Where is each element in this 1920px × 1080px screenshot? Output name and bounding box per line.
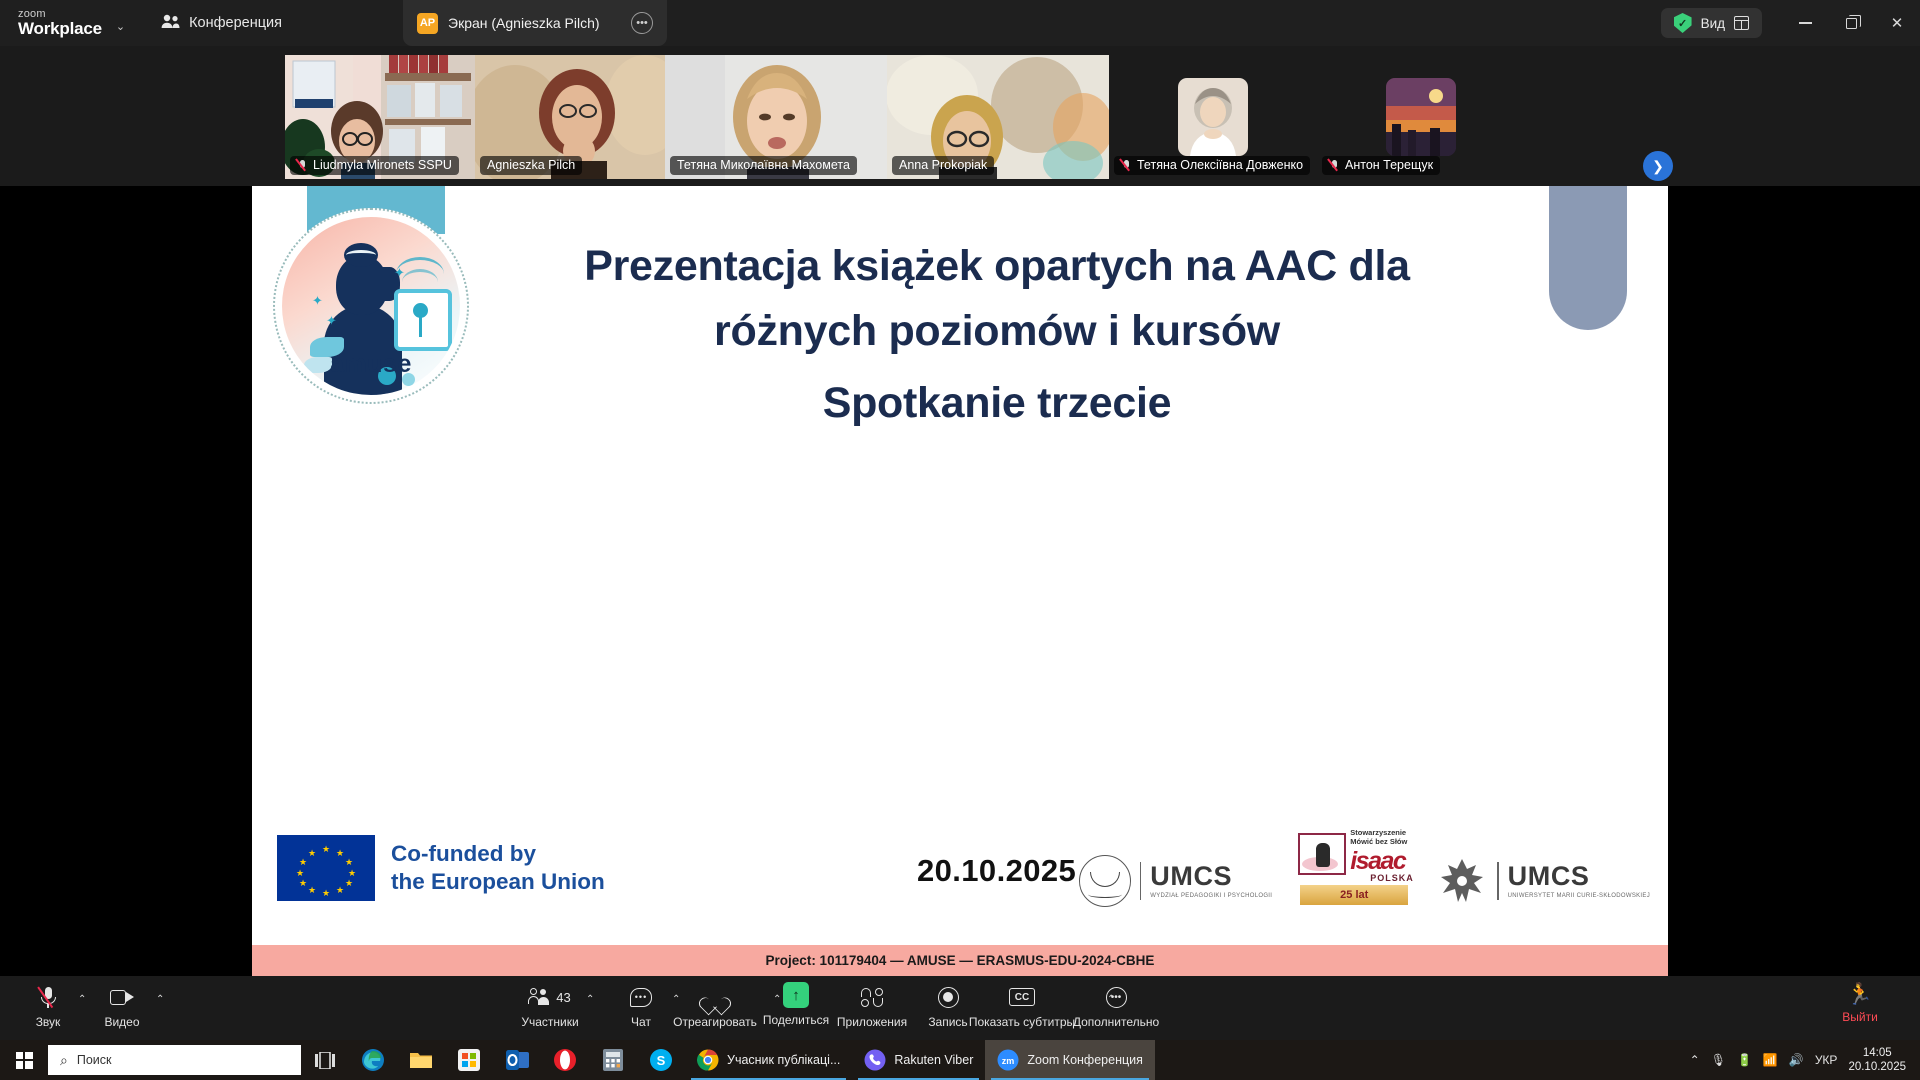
video-tile-avatar[interactable]: Антон Терещук bbox=[1317, 55, 1525, 179]
restore-icon bbox=[1846, 18, 1857, 29]
microsoft-edge-icon[interactable] bbox=[349, 1040, 397, 1080]
umcs-subtitle: WYDZIAŁ PEDAGOGIKI I PSYCHOLOGII bbox=[1150, 893, 1272, 899]
skype-icon[interactable]: S bbox=[637, 1040, 685, 1080]
eu-funding-logo: ★ ★ ★ ★ ★ ★ ★ ★ ★ ★ ★ ★ Co-funded by the… bbox=[277, 835, 605, 901]
title-bar: zoom Workplace ⌄ Конференция AP Экран (A… bbox=[0, 0, 1920, 46]
clock-time: 14:05 bbox=[1863, 1047, 1892, 1059]
close-button[interactable]: ✕ bbox=[1874, 0, 1920, 46]
volume-icon[interactable]: 🔊 bbox=[1789, 1053, 1804, 1067]
flower-icon bbox=[413, 303, 428, 318]
video-tile-avatar[interactable]: Тетяна Олексіївна Довженко bbox=[1109, 55, 1317, 179]
video-options-chevron-icon[interactable]: ⌃ bbox=[156, 994, 164, 1005]
sparkle-icon: ✦ bbox=[394, 265, 405, 281]
view-label: Вид bbox=[1701, 16, 1725, 31]
people-icon bbox=[161, 14, 180, 33]
umcs-wordmark: UMCS UNIWERSYTET MARII CURIE-SKŁODOWSKIE… bbox=[1508, 863, 1650, 899]
windows-taskbar: ⌕ Поиск S Учасник публікаці... bbox=[0, 1040, 1920, 1080]
eu-text-line1: Co-funded by bbox=[391, 840, 605, 868]
clock[interactable]: 14:05 20.10.2025 bbox=[1848, 1046, 1906, 1074]
captions-button[interactable]: CC Показать субтитры ⌃ bbox=[976, 984, 1068, 1029]
zoom-logo-line2: Workplace bbox=[18, 20, 102, 37]
taskbar-app-label: Zoom Конференция bbox=[1027, 1053, 1143, 1067]
video-tile[interactable]: Agnieszka Pilch bbox=[475, 55, 665, 179]
isaac-polska-logo: Stowarzyszenie Mówić bez Słów isaac POLS… bbox=[1298, 833, 1410, 907]
sparkle-icon: ✦ bbox=[312, 293, 323, 309]
isaac-mark: isaac bbox=[1350, 847, 1405, 876]
chat-bubble-icon: ••• bbox=[630, 984, 652, 1010]
record-label: Запись bbox=[928, 1015, 967, 1029]
amuse-logo-wordmark: amuse bbox=[282, 350, 460, 379]
umcs-wordmark: UMCS WYDZIAŁ PEDAGOGIKI I PSYCHOLOGII bbox=[1150, 863, 1272, 899]
slide-decor-blue-pill bbox=[1549, 186, 1627, 330]
taskbar-app-label: Rakuten Viber bbox=[894, 1053, 973, 1067]
svg-text:zm: zm bbox=[1002, 1056, 1015, 1066]
svg-text:S: S bbox=[657, 1053, 666, 1068]
amuse-logo-art: ✦ ✦ ✦ amuse bbox=[282, 217, 460, 395]
tab-meeting[interactable]: Конференция bbox=[161, 0, 282, 46]
restore-button[interactable] bbox=[1828, 0, 1874, 46]
video-tiles: Liudmyla Mironets SSPU Agnieszka bbox=[285, 55, 1525, 179]
clock-date: 20.10.2025 bbox=[1848, 1061, 1906, 1073]
microphone-muted-icon bbox=[1329, 159, 1340, 172]
share-screen-icon: ↑ bbox=[783, 982, 809, 1008]
more-button[interactable]: ••• Дополнительно bbox=[1070, 984, 1162, 1029]
outlook-icon[interactable] bbox=[493, 1040, 541, 1080]
ellipsis-icon[interactable]: ••• bbox=[631, 12, 653, 34]
participant-name: Тетяна Олексіївна Довженко bbox=[1114, 156, 1310, 175]
microphone-muted-icon bbox=[297, 159, 308, 172]
avatar: AP bbox=[417, 13, 438, 34]
participants-count: 43 bbox=[556, 990, 570, 1005]
flower-stem bbox=[419, 317, 422, 337]
participant-name: Liudmyla Mironets SSPU bbox=[290, 156, 459, 175]
tab-meeting-label: Конференция bbox=[189, 15, 282, 31]
participant-name: Тетяна Миколаївна Махомета bbox=[670, 156, 857, 175]
presentation-slide: ✦ ✦ ✦ amuse Prezentacja książek opartych… bbox=[252, 186, 1668, 945]
isaac-anniversary-ribbon: 25 lat bbox=[1300, 885, 1408, 905]
project-banner: Project: 101179404 — AMUSE — ERASMUS-EDU… bbox=[252, 945, 1668, 976]
taskbar-app-zoom[interactable]: zm Zoom Конференция bbox=[985, 1040, 1155, 1080]
apps-grid-icon bbox=[861, 984, 883, 1010]
participant-name-label: Liudmyla Mironets SSPU bbox=[313, 158, 452, 172]
closed-captions-icon: CC bbox=[1009, 984, 1035, 1010]
isaac-caption: Stowarzyszenie Mówić bez Słów bbox=[1350, 829, 1407, 847]
heart-icon bbox=[705, 984, 726, 1010]
react-button[interactable]: Отреагировать ⌃ bbox=[669, 984, 761, 1029]
participants-options-chevron-icon[interactable]: ⌃ bbox=[586, 994, 594, 1005]
microphone-muted-icon bbox=[1121, 159, 1132, 172]
minimize-icon bbox=[1799, 22, 1812, 24]
captions-label: Показать субтитры bbox=[969, 1015, 1075, 1029]
opera-icon[interactable] bbox=[541, 1040, 589, 1080]
participant-video-strip: Liudmyla Mironets SSPU Agnieszka bbox=[0, 46, 1920, 186]
zoom-toolbar: Звук ⌃ Видео ⌃ 43 Участники ⌃ ••• Чат ⌃ … bbox=[0, 976, 1920, 1040]
umcs-faculty-logo: UMCS WYDZIAŁ PEDAGOGIKI I PSYCHOLOGII bbox=[1079, 855, 1272, 907]
search-placeholder: Поиск bbox=[77, 1053, 112, 1067]
participant-name-label: Тетяна Олексіївна Довженко bbox=[1137, 158, 1303, 172]
avatar bbox=[1386, 78, 1456, 156]
umcs-emblem-icon bbox=[1079, 855, 1131, 907]
zoom-meeting-window: zoom Workplace ⌄ Конференция AP Экран (A… bbox=[0, 0, 1920, 1080]
amuse-logo: ✦ ✦ ✦ amuse bbox=[273, 208, 469, 404]
file-explorer-icon[interactable] bbox=[397, 1040, 445, 1080]
eu-flag-icon: ★ ★ ★ ★ ★ ★ ★ ★ ★ ★ ★ ★ bbox=[277, 835, 375, 901]
video-tile-active-speaker[interactable]: Тетяна Миколаївна Махомета bbox=[665, 55, 887, 179]
taskbar-app-chrome[interactable]: Учасник публікаці... bbox=[685, 1040, 852, 1080]
divider bbox=[1140, 862, 1141, 900]
chevron-up-icon[interactable]: ⌃ bbox=[1690, 1053, 1700, 1067]
windows-start-icon[interactable] bbox=[0, 1040, 48, 1080]
eu-text-line2: the European Union bbox=[391, 868, 605, 896]
figure-bun-line bbox=[346, 250, 376, 260]
slide-title: Prezentacja książek opartych na AAC dla … bbox=[452, 234, 1542, 436]
tablet-icon bbox=[394, 289, 452, 351]
participants-button[interactable]: 43 Участники ⌃ bbox=[504, 984, 596, 1029]
video-tile[interactable]: Liudmyla Mironets SSPU bbox=[285, 55, 475, 179]
view-mode-button[interactable]: Вид bbox=[1661, 8, 1762, 38]
participant-name: Agnieszka Pilch bbox=[480, 156, 582, 175]
task-view-icon[interactable] bbox=[301, 1040, 349, 1080]
microphone-icon[interactable]: 🎙 bbox=[1711, 1053, 1726, 1067]
camera-icon bbox=[110, 984, 134, 1010]
zoom-icon: zm bbox=[997, 1049, 1019, 1071]
chrome-icon bbox=[697, 1049, 719, 1071]
viber-icon bbox=[864, 1049, 886, 1071]
partner-logos: UMCS WYDZIAŁ PEDAGOGIKI I PSYCHOLOGII St… bbox=[1079, 833, 1650, 907]
apps-label: Приложения bbox=[837, 1015, 907, 1029]
leave-meeting-button[interactable]: 🏃 Выйти bbox=[1814, 984, 1906, 1024]
avatar bbox=[1178, 78, 1248, 156]
participant-name-label: Тетяна Миколаївна Махомета bbox=[677, 158, 850, 172]
isaac-caption-line2: Mówić bez Słów bbox=[1350, 838, 1407, 847]
battery-icon[interactable]: 🔋 bbox=[1737, 1053, 1752, 1067]
system-tray: ⌃ 🎙 🔋 📶 🔊 УКР 14:05 20.10.2025 bbox=[1690, 1040, 1920, 1080]
video-label: Видео bbox=[104, 1015, 139, 1029]
shared-screen-stage: ✦ ✦ ✦ amuse Prezentacja książek opartych… bbox=[0, 186, 1920, 976]
zoom-workplace-logo: zoom Workplace bbox=[18, 9, 102, 37]
record-dot-icon bbox=[938, 984, 959, 1010]
language-indicator[interactable]: УКР bbox=[1815, 1053, 1838, 1067]
microsoft-store-icon[interactable] bbox=[445, 1040, 493, 1080]
slide-title-line1: Prezentacja książek opartych na AAC dla bbox=[584, 242, 1410, 290]
tab-screen-label: Экран (Agnieszka Pilch) bbox=[448, 15, 621, 31]
minimize-button[interactable] bbox=[1782, 0, 1828, 46]
shield-check-icon bbox=[1674, 13, 1692, 33]
umcs-university-logo: UMCS UNIWERSYTET MARII CURIE-SKŁODOWSKIE… bbox=[1436, 855, 1650, 907]
taskbar-app-viber[interactable]: Rakuten Viber bbox=[852, 1040, 985, 1080]
ellipsis-icon: ••• bbox=[1106, 984, 1127, 1010]
eagle-emblem-icon bbox=[1436, 855, 1488, 907]
share-label: Поделиться bbox=[763, 1013, 829, 1027]
calculator-icon[interactable] bbox=[589, 1040, 637, 1080]
layout-grid-icon bbox=[1734, 16, 1749, 30]
microphone-muted-icon bbox=[41, 984, 56, 1010]
slide-date: 20.10.2025 bbox=[917, 853, 1076, 889]
audio-label: Звук bbox=[36, 1015, 61, 1029]
search-icon: ⌕ bbox=[60, 1052, 68, 1069]
participant-name: Anna Prokopiak bbox=[892, 156, 994, 175]
react-label: Отреагировать bbox=[673, 1015, 757, 1029]
taskbar-app-label: Учасник публікаці... bbox=[727, 1053, 840, 1067]
slide-title-line2: różnych poziomów i kursów bbox=[714, 307, 1280, 355]
sparkle-icon: ✦ bbox=[326, 313, 337, 329]
chat-label: Чат bbox=[631, 1015, 651, 1029]
participants-label: Участники bbox=[521, 1015, 578, 1029]
participant-name: Антон Терещук bbox=[1322, 156, 1440, 175]
people-icon: 43 bbox=[529, 984, 570, 1010]
workspace-dropdown-icon[interactable]: ⌄ bbox=[116, 20, 125, 33]
participant-name-label: Agnieszka Pilch bbox=[487, 158, 575, 172]
isaac-country: POLSKA bbox=[1370, 873, 1414, 883]
umcs-name: UMCS bbox=[1508, 863, 1650, 890]
divider bbox=[1497, 862, 1498, 900]
isaac-symbol-icon bbox=[1298, 833, 1346, 875]
eu-funding-text: Co-funded by the European Union bbox=[391, 840, 605, 897]
window-controls-area: Вид ✕ bbox=[1661, 0, 1920, 46]
video-tile[interactable]: Anna Prokopiak bbox=[887, 55, 1109, 179]
video-button[interactable]: Видео ⌃ bbox=[76, 984, 168, 1029]
tab-screen-share[interactable]: AP Экран (Agnieszka Pilch) ••• bbox=[403, 0, 667, 46]
chevron-right-icon[interactable]: ❯ bbox=[1643, 151, 1673, 181]
participant-name-label: Антон Терещук bbox=[1345, 158, 1433, 172]
participant-name-label: Anna Prokopiak bbox=[899, 158, 987, 172]
umcs-subtitle: UNIWERSYTET MARII CURIE-SKŁODOWSKIEJ bbox=[1508, 893, 1650, 899]
umcs-name: UMCS bbox=[1150, 863, 1272, 890]
more-label: Дополнительно bbox=[1073, 1015, 1159, 1029]
search-input[interactable]: ⌕ Поиск bbox=[48, 1045, 301, 1075]
slide-title-line3: Spotkanie trzecie bbox=[452, 371, 1542, 436]
leave-run-icon: 🏃 bbox=[1847, 984, 1873, 1005]
leave-label: Выйти bbox=[1842, 1010, 1878, 1024]
network-icon[interactable]: 📶 bbox=[1763, 1053, 1778, 1067]
